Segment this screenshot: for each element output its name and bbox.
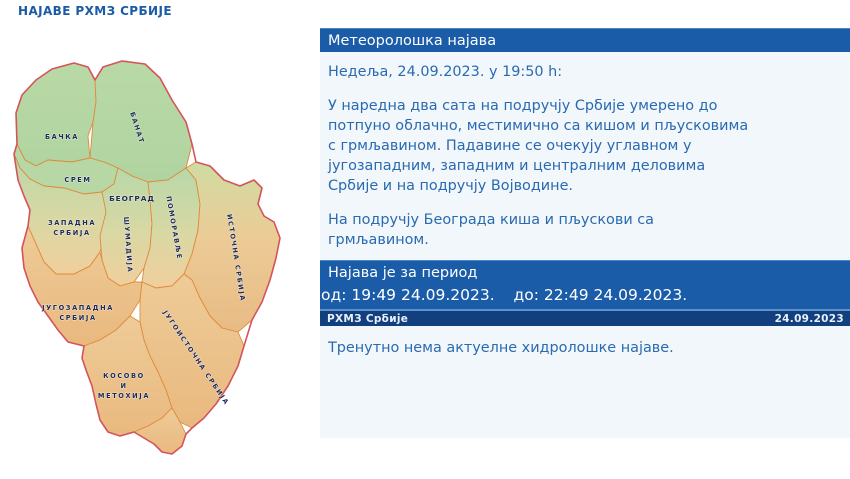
map-region-backa — [16, 63, 96, 166]
map-label-srem: СРЕМ — [64, 176, 91, 184]
meteo-paragraph2-line2: грмљавином. — [328, 230, 842, 250]
map-label-kosovo-metohija-line1: КОСОВО — [103, 372, 145, 380]
map-of-serbia: БАЧКА БАНАТ СРЕМ БЕОГРАД ЗАПАДНА СРБИЈА … — [0, 40, 318, 479]
meteo-paragraph1-line1: У наредна два сата на подручју Србије ум… — [328, 96, 842, 116]
period-bar: Најава је за период од: 19:49 24.09.2023… — [320, 260, 850, 309]
page-title: НАЈАВЕ РХМЗ СРБИЈЕ — [18, 4, 172, 18]
meteo-paragraph1-line2: потпуно облачно, местимично са кишом и п… — [328, 116, 842, 136]
meteo-paragraph1-line5: Србије и на подручју Војводине. — [328, 176, 842, 196]
map-label-zapadna-srbija-line2: СРБИЈА — [53, 229, 90, 237]
meteo-paragraph1-line3: с грмљавином. Падавине се очекују углавн… — [328, 136, 842, 156]
map-label-kosovo-metohija-line3: МЕТОХИЈА — [98, 392, 150, 400]
map-label-beograd: БЕОГРАД — [109, 194, 155, 203]
meteo-paragraph1-line4: југозападним, западним и централним дело… — [328, 156, 842, 176]
meteo-header: Метеоролошка најава — [320, 28, 850, 52]
map-label-backa: БАЧКА — [45, 133, 79, 141]
hydro-source-date: 24.09.2023 — [775, 313, 844, 325]
hydro-source-label: РХМЗ Србије — [327, 313, 408, 325]
map-svg: БАЧКА БАНАТ СРЕМ БЕОГРАД ЗАПАДНА СРБИЈА … — [0, 40, 318, 479]
map-label-zapadna-srbija-line1: ЗАПАДНА — [48, 219, 96, 227]
period-title: Најава је за период — [320, 263, 850, 284]
map-label-kosovo-metohija-line2: И — [120, 382, 127, 390]
period-from-value: 19:49 24.09.2023. — [351, 286, 494, 304]
map-label-jugozapadna-srbija-line1: ЈУГОЗАПАДНА — [41, 304, 114, 312]
period-to-label: до: — [514, 286, 539, 304]
meteo-paragraph2-line1: На подручју Београда киша и пљускови са — [328, 210, 842, 230]
announcements-panel: Метеоролошка најава Недеља, 24.09.2023. … — [320, 28, 850, 438]
hydro-message: Тренутно нема актуелне хидролошке најаве… — [320, 326, 850, 358]
hydro-source-bar: РХМЗ Србије 24.09.2023 — [320, 309, 850, 326]
map-label-jugozapadna-srbija-line2: СРБИЈА — [59, 314, 96, 322]
period-range: од: 19:49 24.09.2023. до: 22:49 24.09.20… — [320, 284, 850, 306]
meteo-body: Недеља, 24.09.2023. у 19:50 h: У наредна… — [320, 52, 850, 260]
period-from-label: од: — [321, 286, 346, 304]
period-to-value: 22:49 24.09.2023. — [544, 286, 687, 304]
meteo-timestamp: Недеља, 24.09.2023. у 19:50 h: — [328, 62, 842, 82]
